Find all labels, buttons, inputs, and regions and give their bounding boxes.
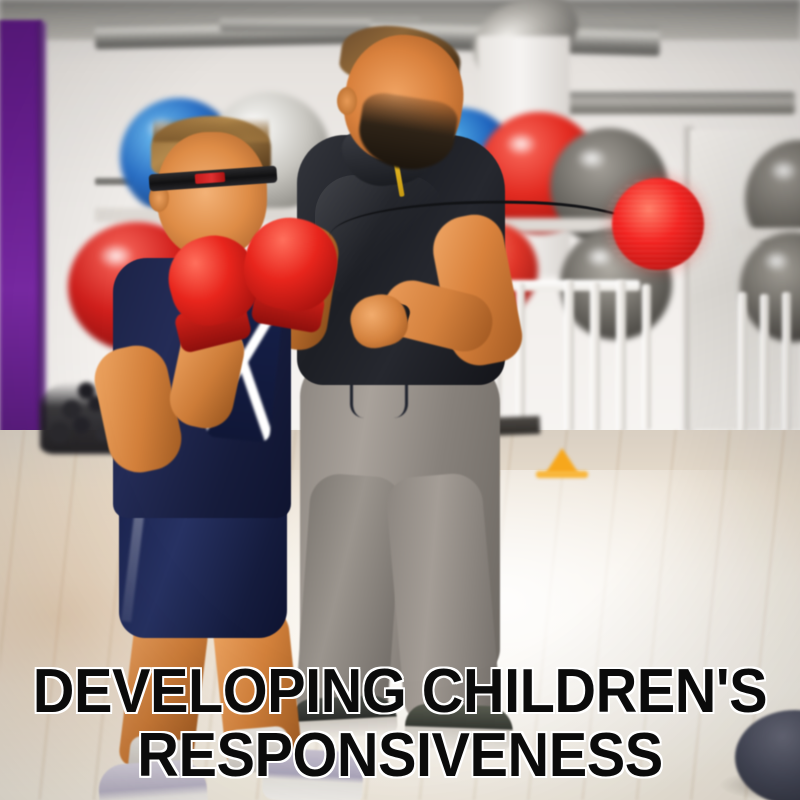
rail-post: [782, 292, 791, 432]
accent-wall-purple: [0, 20, 42, 435]
child-shoe-right: [262, 747, 365, 800]
ceiling-duct-icon: [560, 92, 795, 114]
reflex-ball-motion-blur: [604, 176, 712, 272]
child-shoe-left: [97, 758, 209, 800]
promo-image: DEVELOPING CHILDREN'S RESPONSIVENESS: [0, 0, 800, 800]
accent-wall-edge: [38, 22, 46, 432]
rail-post: [564, 280, 574, 432]
child-figure: [95, 110, 355, 770]
rail-post: [642, 284, 651, 430]
rail-post: [616, 280, 626, 432]
rail-post: [760, 294, 769, 432]
rail-post: [590, 282, 600, 432]
rail-post: [738, 292, 747, 432]
barrier-rail: [738, 292, 800, 432]
coach-shoe-right: [404, 703, 513, 751]
headband-logo: [195, 172, 226, 184]
